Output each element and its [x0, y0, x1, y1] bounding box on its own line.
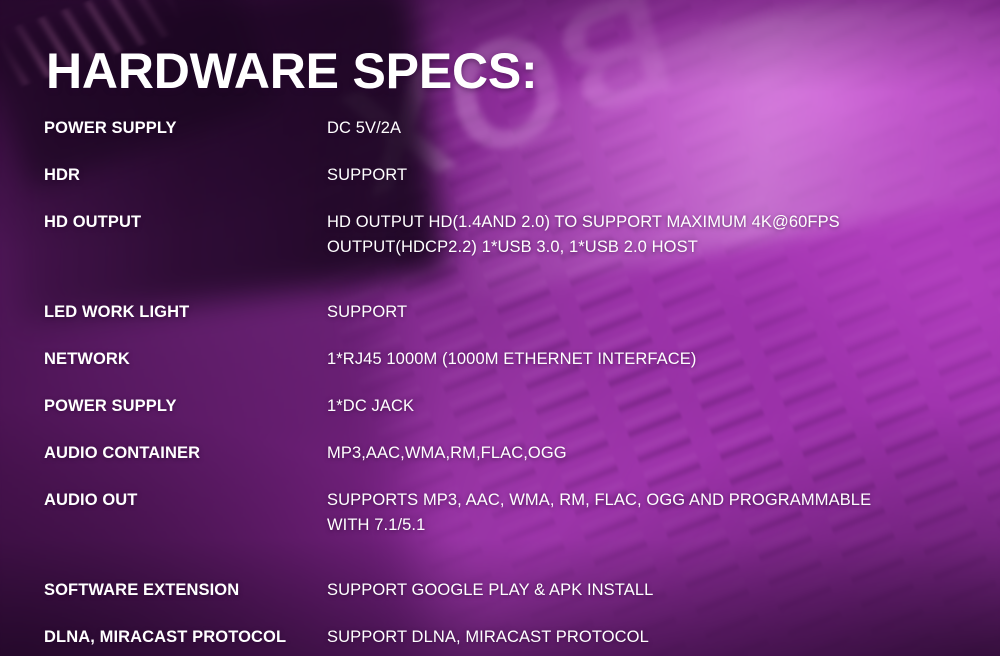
spec-list: POWER SUPPLYDC 5V/2AHDRSUPPORTHD OUTPUTH…	[44, 116, 974, 656]
spec-value-line: SUPPORTS MP3, AAC, WMA, RM, FLAC, OGG AN…	[327, 488, 974, 513]
spec-row: POWER SUPPLY1*DC JACK	[44, 394, 974, 419]
spec-label: LED WORK LIGHT	[44, 300, 327, 324]
spec-value: SUPPORT DLNA, MIRACAST PROTOCOL	[327, 625, 974, 650]
spec-value: SUPPORT GOOGLE PLAY & APK INSTALL	[327, 578, 974, 603]
spec-value: 1*DC JACK	[327, 394, 974, 419]
spec-value-line: OUTPUT(HDCP2.2) 1*USB 3.0, 1*USB 2.0 HOS…	[327, 235, 974, 260]
spec-value-line: SUPPORT	[327, 163, 974, 188]
spec-row: DLNA, MIRACAST PROTOCOLSUPPORT DLNA, MIR…	[44, 625, 974, 650]
spec-value: SUPPORT	[327, 163, 974, 188]
spec-value-line: DC 5V/2A	[327, 116, 974, 141]
spec-value: SUPPORTS MP3, AAC, WMA, RM, FLAC, OGG AN…	[327, 488, 974, 538]
spec-value-line: 1*DC JACK	[327, 394, 974, 419]
spec-row: HDRSUPPORT	[44, 163, 974, 188]
spec-value-line: MP3,AAC,WMA,RM,FLAC,OGG	[327, 441, 974, 466]
spec-row: POWER SUPPLYDC 5V/2A	[44, 116, 974, 141]
spec-label: AUDIO OUT	[44, 488, 327, 512]
spec-row: LED WORK LIGHTSUPPORT	[44, 300, 974, 325]
spec-value-line: 1*RJ45 1000M (1000M ETHERNET INTERFACE)	[327, 347, 974, 372]
spec-row: AUDIO CONTAINERMP3,AAC,WMA,RM,FLAC,OGG	[44, 441, 974, 466]
spec-row: NETWORK1*RJ45 1000M (1000M ETHERNET INTE…	[44, 347, 974, 372]
spec-row: AUDIO OUTSUPPORTS MP3, AAC, WMA, RM, FLA…	[44, 488, 974, 538]
spec-row: HD OUTPUTHD OUTPUT HD(1.4AND 2.0) TO SUP…	[44, 210, 974, 260]
page-title: HARDWARE SPECS:	[46, 42, 537, 100]
hardware-specs-banner: BOX HARDWARE SPECS: POWER SUPPLYDC 5V/2A…	[0, 0, 1000, 656]
spec-label: POWER SUPPLY	[44, 116, 327, 140]
spec-value: HD OUTPUT HD(1.4AND 2.0) TO SUPPORT MAXI…	[327, 210, 974, 260]
spec-value: DC 5V/2A	[327, 116, 974, 141]
spec-value-line: SUPPORT DLNA, MIRACAST PROTOCOL	[327, 625, 974, 650]
spec-label: NETWORK	[44, 347, 327, 371]
spec-label: HD OUTPUT	[44, 210, 327, 234]
spec-value-line: HD OUTPUT HD(1.4AND 2.0) TO SUPPORT MAXI…	[327, 210, 974, 235]
spec-value-line: SUPPORT	[327, 300, 974, 325]
spec-label: SOFTWARE EXTENSION	[44, 578, 327, 602]
spec-label: AUDIO CONTAINER	[44, 441, 327, 465]
spec-label: HDR	[44, 163, 327, 187]
spec-value: 1*RJ45 1000M (1000M ETHERNET INTERFACE)	[327, 347, 974, 372]
spec-label: DLNA, MIRACAST PROTOCOL	[44, 625, 327, 649]
spec-value: SUPPORT	[327, 300, 974, 325]
spec-value-line: SUPPORT GOOGLE PLAY & APK INSTALL	[327, 578, 974, 603]
spec-label: POWER SUPPLY	[44, 394, 327, 418]
spec-value-line: WITH 7.1/5.1	[327, 513, 974, 538]
spec-value: MP3,AAC,WMA,RM,FLAC,OGG	[327, 441, 974, 466]
banner-content: HARDWARE SPECS: POWER SUPPLYDC 5V/2AHDRS…	[0, 0, 1000, 656]
spec-row: SOFTWARE EXTENSIONSUPPORT GOOGLE PLAY & …	[44, 578, 974, 603]
